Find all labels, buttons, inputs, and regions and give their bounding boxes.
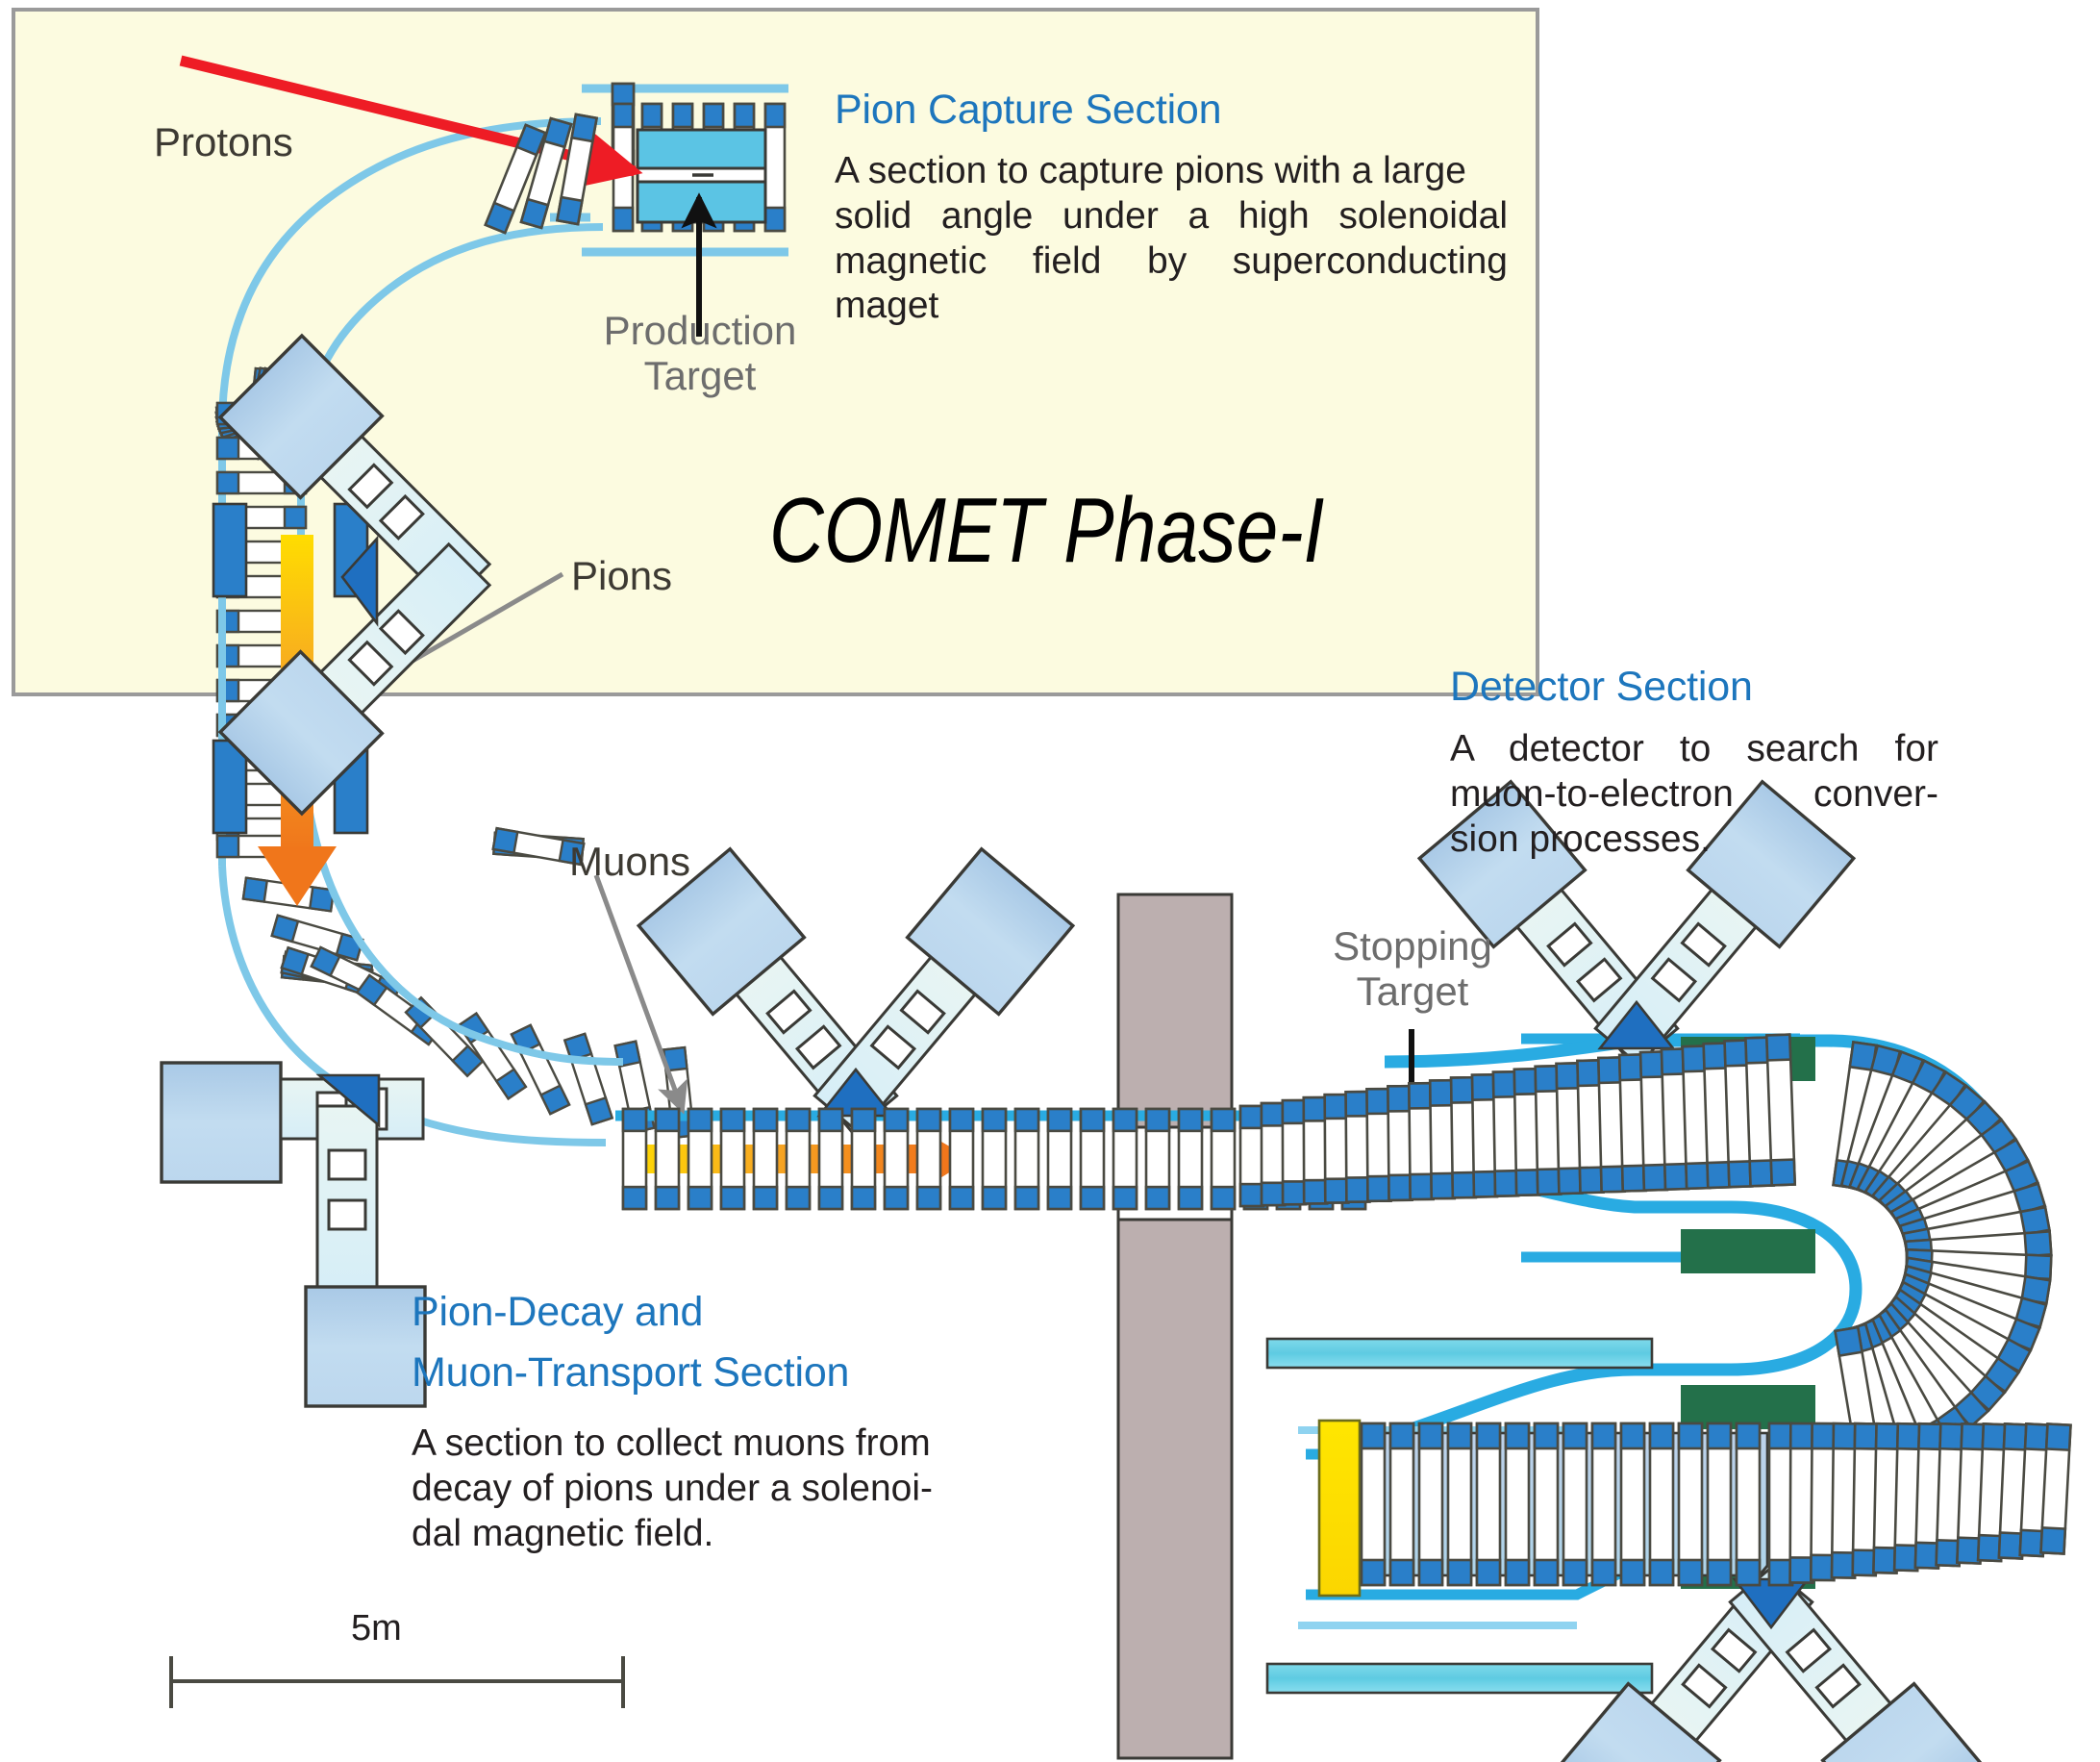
callout-muons: Muons	[569, 839, 690, 884]
solenoid-coil	[688, 1109, 712, 1209]
solenoid-coil	[1679, 1423, 1702, 1585]
solenoid-coil	[656, 1109, 679, 1209]
section-body-detector: A detector to search for muon-to-electro…	[1450, 727, 1938, 862]
callout-line: Target	[1288, 969, 1537, 1014]
section-title-pion-capture: Pion Capture Section	[835, 87, 1221, 134]
lower-detector-coil-row	[1362, 1423, 2070, 1585]
solenoid-coil	[1146, 1109, 1169, 1209]
body-line: A section to collect muons from	[412, 1422, 1008, 1467]
solenoid-coil	[623, 1109, 646, 1209]
section-body-pion-capture: A section to capture pions with a large …	[835, 149, 1508, 329]
solenoid-coil	[1283, 1100, 1306, 1204]
solenoid-coil	[852, 1109, 875, 1209]
service-magnet-assembly	[638, 849, 1073, 1153]
solenoid-coil	[1650, 1423, 1673, 1585]
shield-wall	[1118, 894, 1232, 1758]
callout-production-target: Production Target	[575, 308, 825, 398]
callout-line: Stopping	[1288, 923, 1537, 969]
solenoid-coil	[1448, 1423, 1471, 1585]
solenoid-coil	[1737, 1423, 1760, 1585]
section-title-pion-decay-line2: Muon-Transport Section	[412, 1349, 849, 1397]
solenoid-coil	[1563, 1423, 1587, 1585]
solenoid-coil	[885, 1109, 908, 1209]
section-body-pion-decay: A section to collect muons from decay of…	[412, 1422, 1008, 1556]
solenoid-coil	[1015, 1109, 1038, 1209]
body-line: dal magnetic field.	[412, 1512, 1008, 1557]
solenoid-coil	[1477, 1423, 1500, 1585]
solenoid-coil	[1390, 1423, 1413, 1585]
scale-bar	[171, 1656, 623, 1708]
solenoid-coil	[1113, 1109, 1137, 1209]
callout-line: Production	[575, 308, 825, 353]
solenoid-coil	[1362, 1423, 1385, 1585]
calorimeter	[1319, 1421, 1360, 1596]
callout-protons: Protons	[154, 119, 293, 164]
body-line: muon-to-electron conver-	[1450, 772, 1938, 818]
callout-pions: Pions	[571, 553, 672, 598]
solenoid-coil	[1769, 1423, 1792, 1585]
body-line: sion processes.	[1450, 818, 1938, 863]
solenoid-coil	[1262, 1103, 1285, 1205]
solenoid-coil	[917, 1109, 940, 1209]
solenoid-coil	[754, 1109, 777, 1209]
solenoid-coil	[721, 1109, 744, 1209]
solenoid-coil	[1419, 1423, 1442, 1585]
solenoid-coil	[1592, 1423, 1615, 1585]
body-line: A detector to search for	[1450, 727, 1938, 772]
page-title: COMET Phase-I	[769, 478, 1324, 584]
solenoid-coil	[1048, 1109, 1071, 1209]
solenoid-coil	[1081, 1109, 1104, 1209]
callout-line: Target	[575, 353, 825, 398]
solenoid-coil	[1240, 1106, 1263, 1206]
solenoid-coil	[950, 1109, 973, 1209]
body-line: solid angle under a high solenoidal	[835, 194, 1508, 239]
solenoid-coil	[1766, 1035, 1794, 1186]
solenoid-coil	[1535, 1423, 1558, 1585]
uturn-coil-row	[1834, 1043, 2052, 1473]
section-title-pion-decay-line1: Pion-Decay and	[412, 1289, 703, 1336]
body-line: decay of pions under a solenoi-	[412, 1467, 1008, 1512]
solenoid-coil	[1621, 1423, 1644, 1585]
body-line: maget	[835, 284, 1508, 329]
shield-block	[1681, 1229, 1815, 1273]
comet-phase-i-diagram: COMET Phase-I Pion Capture Section A sec…	[0, 0, 2100, 1762]
solenoid-coil	[1212, 1109, 1235, 1209]
solenoid-coil	[1708, 1423, 1731, 1585]
solenoid-coil	[1506, 1423, 1529, 1585]
solenoid-coil	[983, 1109, 1006, 1209]
callout-stopping-target: Stopping Target	[1288, 923, 1537, 1014]
body-line: magnetic field by superconducting	[835, 239, 1508, 285]
solenoid-coil	[819, 1109, 842, 1209]
section-title-detector: Detector Section	[1450, 664, 1753, 711]
service-magnet-assembly	[162, 1063, 425, 1406]
scale-bar-label: 5m	[351, 1608, 402, 1649]
solenoid-coil	[787, 1109, 810, 1209]
solenoid-coil	[1179, 1109, 1202, 1209]
body-line: A section to capture pions with a large	[835, 149, 1508, 194]
